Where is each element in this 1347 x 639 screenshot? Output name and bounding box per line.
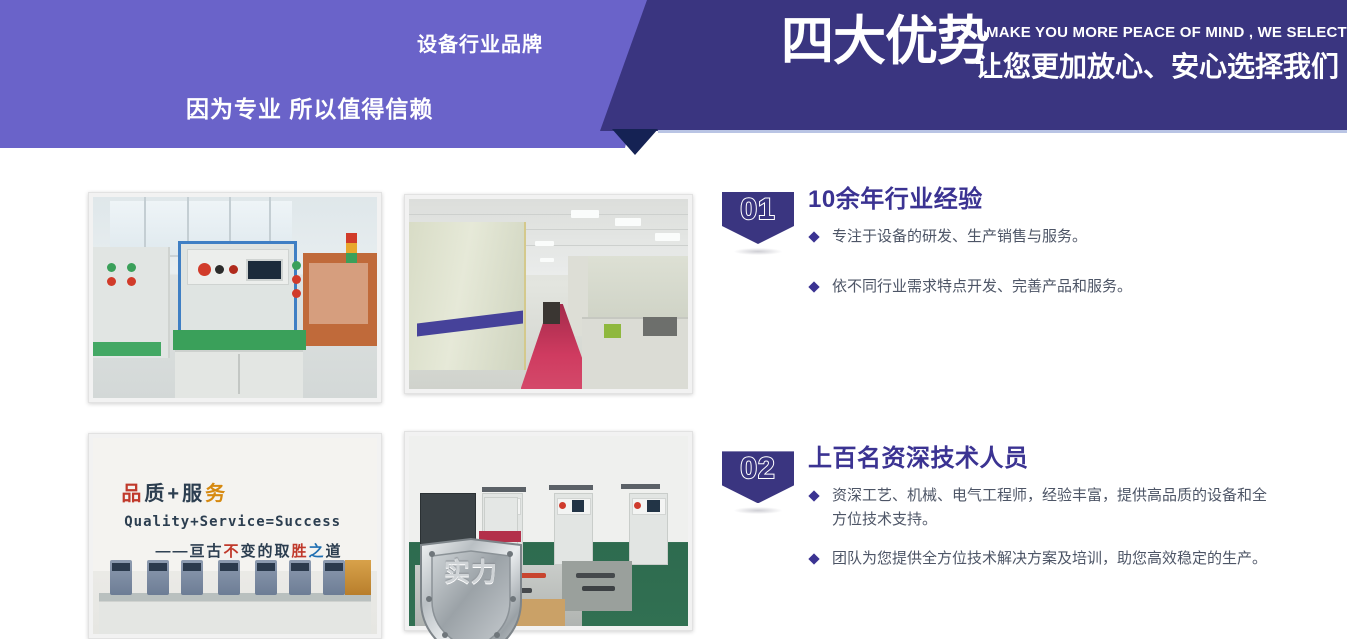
diamond-bullet-icon <box>808 231 819 242</box>
diamond-bullet-icon <box>808 491 819 502</box>
diamond-bullet-icon <box>808 281 819 292</box>
feature-number-badge-01: 01 <box>722 192 800 262</box>
wall-text-line2: Quality+Service=Success <box>124 514 341 530</box>
banner-subtag: 设备行业品牌 <box>417 28 543 57</box>
feature-item-01: 01 10余年行业经验 专注于设备的研发、生产销售与服务。 依不同行业需求特点开… <box>722 186 1322 299</box>
feature-number-01: 01 <box>740 192 775 228</box>
wall-text-line1: 品质+服务 <box>121 477 228 506</box>
strength-shield-label: 实力 <box>415 559 527 586</box>
banner-underline <box>658 130 1347 133</box>
strength-shield-icon: 实力 <box>415 537 527 639</box>
feature-bullet: 资深工艺、机械、电气工程师，经验丰富，提供高品质的设备和全方位技术支持。 <box>808 484 1278 533</box>
feature-title-02: 上百名资深技术人员 <box>808 445 1322 474</box>
gallery-photo-office-corridor[interactable] <box>404 194 693 394</box>
gallery-photo-quality-service-wall[interactable]: 品质+服务 Quality+Service=Success ——亘古不变的取胜之… <box>88 433 382 639</box>
feature-item-02: 02 上百名资深技术人员 资深工艺、机械、电气工程师，经验丰富，提供高品质的设备… <box>722 445 1322 571</box>
wall-text-line3: ——亘古不变的取胜之道 <box>155 540 342 561</box>
page-title-english: MAKE YOU MORE PEACE OF MIND , WE SELECT <box>986 24 1347 41</box>
banner-light-shape <box>0 0 660 148</box>
photo-gallery: 品质+服务 Quality+Service=Success ——亘古不变的取胜之… <box>88 192 700 639</box>
diamond-bullet-icon <box>808 553 819 564</box>
banner-tagline: 因为专业 所以值得信赖 <box>186 90 433 124</box>
feature-number-02: 02 <box>740 451 775 487</box>
feature-title-01: 10余年行业经验 <box>808 186 1322 215</box>
page-title-subtitle: 让您更加放心、安心选择我们 <box>975 45 1339 85</box>
feature-number-badge-02: 02 <box>722 451 800 521</box>
feature-bullets-02: 资深工艺、机械、电气工程师，经验丰富，提供高品质的设备和全方位技术支持。 团队为… <box>808 484 1322 571</box>
page-title: 四大优势 <box>781 15 989 68</box>
feature-list: 01 10余年行业经验 专注于设备的研发、生产销售与服务。 依不同行业需求特点开… <box>722 186 1322 585</box>
header-banner: 设备行业品牌 因为专业 所以值得信赖 四大优势 MAKE YOU MORE PE… <box>0 0 1347 152</box>
advantages-page: 设备行业品牌 因为专业 所以值得信赖 四大优势 MAKE YOU MORE PE… <box>0 0 1347 639</box>
feature-bullet: 依不同行业需求特点开发、完善产品和服务。 <box>808 275 1278 299</box>
feature-bullets-01: 专注于设备的研发、生产销售与服务。 依不同行业需求特点开发、完善产品和服务。 <box>808 225 1322 300</box>
gallery-photo-welding-machine-workshop[interactable] <box>88 192 382 403</box>
feature-bullet: 专注于设备的研发、生产销售与服务。 <box>808 225 1278 249</box>
feature-bullet: 团队为您提供全方位技术解决方案及培训，助您高效稳定的生产。 <box>808 547 1308 571</box>
